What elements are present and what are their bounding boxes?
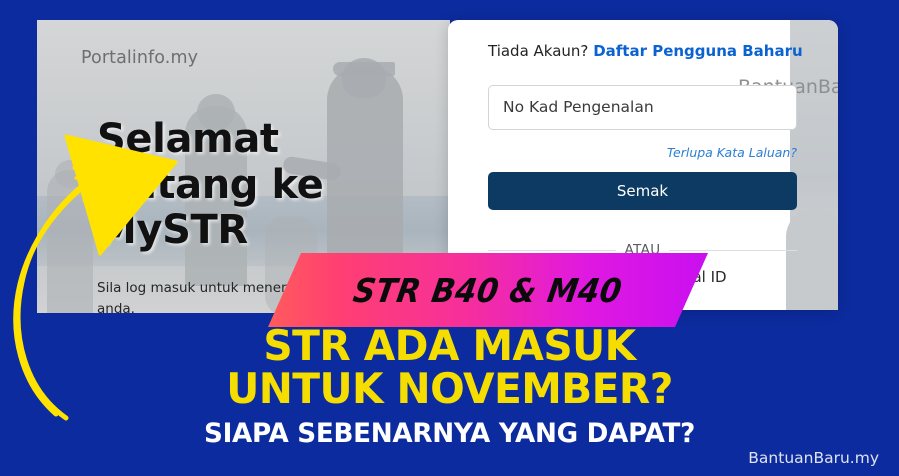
forgot-password-link[interactable]: Terlupa Kata Laluan? xyxy=(667,145,797,160)
no-account-row: Tiada Akaun? Daftar Pengguna Baharu xyxy=(488,42,803,60)
headline-block: STR ADA MASUK UNTUK NOVEMBER? SIAPA SEBE… xyxy=(0,325,899,449)
ic-number-input-value: No Kad Pengenalan xyxy=(503,98,654,116)
divider-line-right xyxy=(669,250,797,251)
register-link[interactable]: Daftar Pengguna Baharu xyxy=(593,42,802,60)
semak-submit-button[interactable]: Semak xyxy=(488,172,797,210)
photo-strip-blob xyxy=(786,208,838,310)
str-category-banner: STR B40 & M40 xyxy=(268,253,708,327)
hero-heading: Selamat Datang ke MySTR xyxy=(97,117,437,254)
str-category-banner-label: STR B40 & M40 xyxy=(351,271,625,310)
card-photo-strip xyxy=(790,20,838,310)
headline-line-2: UNTUK NOVEMBER? xyxy=(13,368,885,411)
portal-brand-label: Portalinfo.my xyxy=(81,48,198,68)
poster-canvas: Portalinfo.my Selamat Datang ke MySTR Si… xyxy=(0,0,899,476)
person-head-far-left xyxy=(55,160,85,188)
headline-line-1: STR ADA MASUK xyxy=(13,325,885,368)
divider-line-left xyxy=(488,250,616,251)
footer-watermark: BantuanBaru.my xyxy=(748,449,879,467)
person-cap-right xyxy=(333,62,395,76)
ic-number-input[interactable]: No Kad Pengenalan xyxy=(488,85,797,130)
person-silhouette-far-left xyxy=(47,170,93,313)
no-account-label: Tiada Akaun? xyxy=(488,42,588,60)
headline-line-3: SIAPA SEBENARNYA YANG DAPAT? xyxy=(13,418,885,449)
